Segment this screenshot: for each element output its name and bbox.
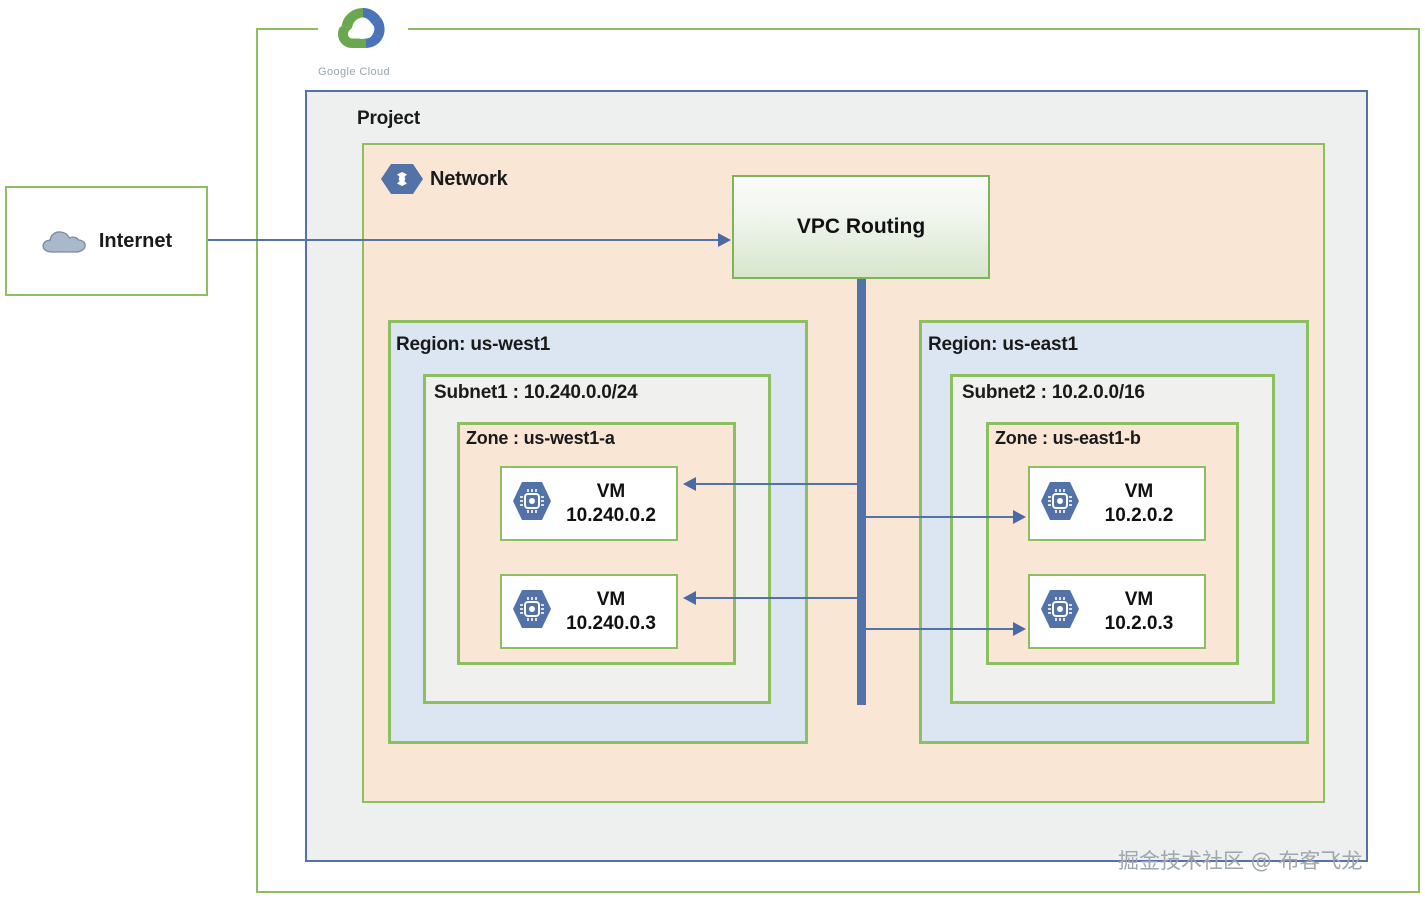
vm-chip-icon — [512, 479, 552, 528]
vm-ip: 10.240.0.3 — [566, 613, 656, 634]
vpc-routing-label: VPC Routing — [797, 215, 925, 239]
vm-node-text: VM 10.2.0.3 — [1080, 588, 1204, 634]
vm-node-10-240-0-2[interactable]: VM 10.240.0.2 — [500, 466, 678, 541]
vm-chip-icon — [1040, 479, 1080, 528]
region-us-east1-label: Region: us-east1 — [928, 334, 1078, 356]
vm-node-10-2-0-3[interactable]: VM 10.2.0.3 — [1028, 574, 1206, 649]
trunk-to-vm-west-1-arrowhead — [683, 477, 696, 491]
vm-chip-icon — [1040, 587, 1080, 636]
vm-title: VM — [1125, 589, 1154, 610]
internet-to-vpc-arrowhead — [718, 233, 731, 247]
trunk-to-vm-east-2-line — [866, 628, 1013, 630]
network-label: Network — [430, 168, 508, 191]
internet-to-vpc-line — [208, 239, 720, 241]
vm-node-text: VM 10.240.0.3 — [552, 588, 676, 634]
google-cloud-logo — [322, 2, 404, 60]
vm-chip-icon — [512, 587, 552, 636]
vm-node-text: VM 10.2.0.2 — [1080, 480, 1204, 526]
vm-title: VM — [597, 589, 626, 610]
vm-node-10-2-0-2[interactable]: VM 10.2.0.2 — [1028, 466, 1206, 541]
trunk-to-vm-west-2-line — [696, 597, 862, 599]
vpc-routing-trunk-line — [857, 279, 866, 705]
subnet2-label: Subnet2 : 10.2.0.0/16 — [962, 382, 1145, 404]
trunk-to-vm-east-1-line — [866, 516, 1013, 518]
google-cloud-logo-text: Google Cloud — [318, 66, 390, 78]
region-us-west1-label: Region: us-west1 — [396, 334, 550, 356]
trunk-to-vm-west-2-arrowhead — [683, 591, 696, 605]
vm-title: VM — [597, 481, 626, 502]
project-label: Project — [357, 108, 420, 130]
subnet1-label: Subnet1 : 10.240.0.0/24 — [434, 382, 637, 404]
trunk-to-vm-west-1-line — [696, 483, 862, 485]
internet-label: Internet — [99, 230, 172, 253]
vpc-routing-node[interactable]: VPC Routing — [732, 175, 990, 279]
vm-node-text: VM 10.240.0.2 — [552, 480, 676, 526]
diagram-canvas: Google Cloud Project Network Internet VP… — [0, 0, 1425, 899]
network-hexagon-icon — [380, 163, 424, 195]
vm-ip: 10.2.0.2 — [1105, 505, 1174, 526]
watermark: 掘金技术社区 @ 布客飞龙 — [1118, 845, 1362, 875]
vm-node-10-240-0-3[interactable]: VM 10.240.0.3 — [500, 574, 678, 649]
trunk-to-vm-east-2-arrowhead — [1013, 622, 1026, 636]
vm-ip: 10.2.0.3 — [1105, 613, 1174, 634]
cloud-icon — [41, 227, 87, 255]
vm-title: VM — [1125, 481, 1154, 502]
zone-us-east1-b-label: Zone : us-east1-b — [995, 428, 1141, 449]
trunk-to-vm-east-1-arrowhead — [1013, 510, 1026, 524]
internet-node[interactable]: Internet — [5, 186, 208, 296]
vm-ip: 10.240.0.2 — [566, 505, 656, 526]
zone-us-west1-a-label: Zone : us-west1-a — [466, 428, 615, 449]
